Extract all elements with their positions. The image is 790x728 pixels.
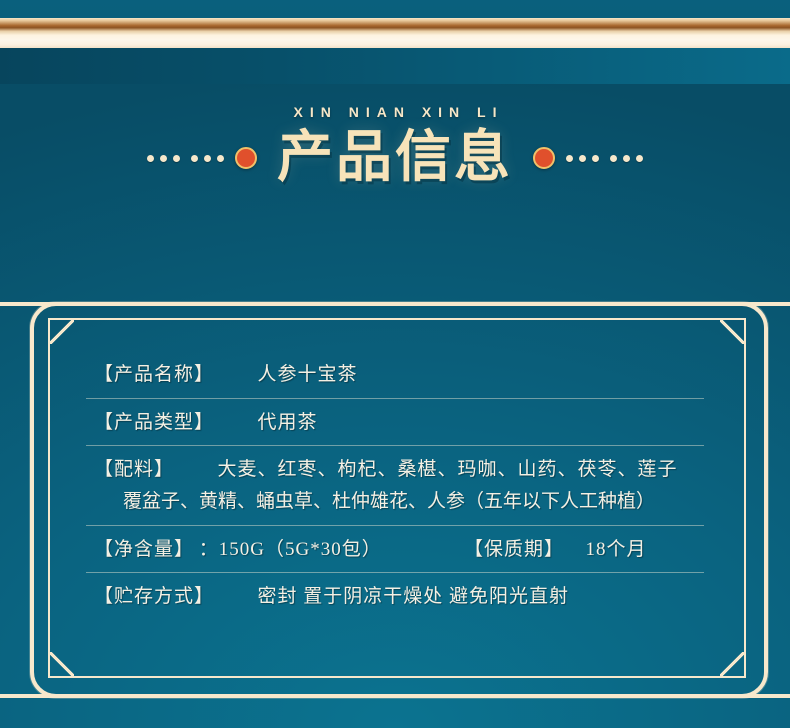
small-dot-icon [592,155,599,162]
info-label: 【贮存方式】 [94,586,214,607]
info-label: 【配料】 [94,459,174,480]
info-row-ingredients: 【配料】 大麦、红枣、枸杞、桑椹、玛咖、山药、茯苓、莲子 覆盆子、黄精、蛹虫草、… [60,457,730,524]
info-label: 【净含量】 [94,539,194,560]
info-value: 人参十宝茶 [258,364,358,385]
small-dot-icon [610,155,617,162]
small-dot-icon [623,155,630,162]
top-under-band [0,48,790,84]
outer-frame-rail-top-right [714,302,790,306]
top-dark-band [0,0,790,18]
product-info-page: XIN NIAN XIN LI 产品信息 [0,0,790,728]
info-row-storage: 【贮存方式】 密封 置于阴凉干燥处 避免阳光直射 [60,584,730,620]
info-row-net-content: 【净含量】 ：150G（5G*30包） 【保质期】 18个月 [60,537,730,573]
dot-group-right-inner [566,155,599,162]
heading-title-row: 产品信息 [0,130,790,186]
small-dot-icon [204,155,211,162]
info-value-secondary: 18个月 [585,539,646,560]
small-dot-icon [147,155,154,162]
row-divider [86,525,704,526]
outer-frame-rail-bottom-left [0,694,84,698]
heading-pinyin: XIN NIAN XIN LI [0,104,790,120]
info-value: 大麦、红枣、枸杞、桑椹、玛咖、山药、茯苓、莲子 [218,459,678,480]
row-divider [86,445,704,446]
info-row-product-type: 【产品类型】 代用茶 [60,410,730,446]
info-value: 密封 置于阴凉干燥处 避免阳光直射 [258,586,570,607]
small-dot-icon [173,155,180,162]
dot-group-left-inner [191,155,224,162]
outer-frame-rail-top-left [0,302,84,306]
small-dot-icon [636,155,643,162]
row-divider [86,572,704,573]
info-value: ：150G（5G*30包） [199,539,382,560]
page-heading: XIN NIAN XIN LI 产品信息 [0,104,790,186]
decor-dots-right [533,147,643,169]
info-value-line2: 覆盆子、黄精、蛹虫草、杜仲雄花、人参（五年以下人工种植） [48,489,730,515]
small-dot-icon [579,155,586,162]
row-divider [86,398,704,399]
info-label: 【产品类型】 [94,412,214,433]
decor-dots-left [147,147,257,169]
page-title: 产品信息 [273,130,517,186]
top-gold-rule [0,18,790,40]
small-dot-icon [191,155,198,162]
product-info-panel: 【产品名称】 人参十宝茶 【产品类型】 代用茶 【配料】 大麦、红枣、枸杞、桑椹… [48,318,742,674]
info-row-product-name: 【产品名称】 人参十宝茶 [60,362,730,398]
top-gold-rule-soft [0,40,790,48]
outer-frame-rail-bottom-right [714,694,790,698]
circle-dot-icon [235,147,257,169]
small-dot-icon [566,155,573,162]
small-dot-icon [217,155,224,162]
small-dot-icon [160,155,167,162]
info-label-secondary: 【保质期】 [464,539,564,560]
info-value: 代用茶 [258,412,318,433]
dot-group-right-outer [610,155,643,162]
circle-dot-icon [533,147,555,169]
info-label: 【产品名称】 [94,364,214,385]
dot-group-left-outer [147,155,180,162]
